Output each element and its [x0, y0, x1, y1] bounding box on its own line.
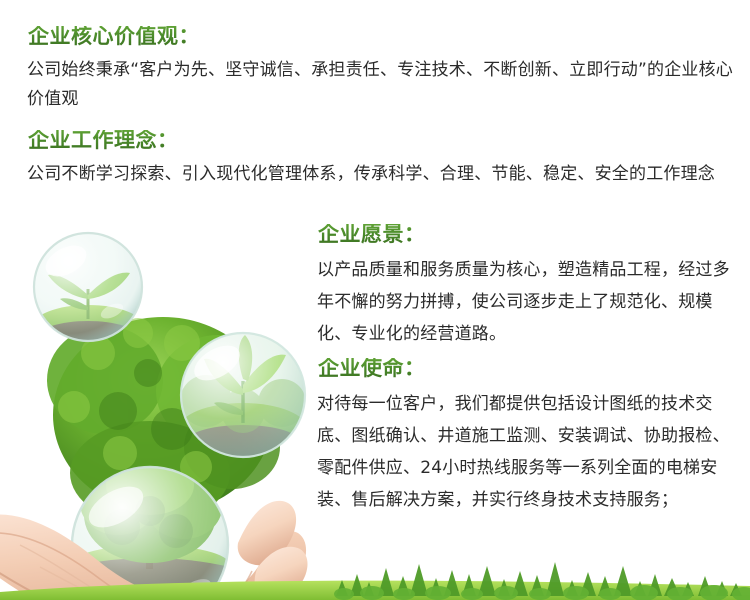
- body-vision: 以产品质量和服务质量为核心，塑造精品工程，经过多年不懈的努力拼搏，使公司逐步走上…: [317, 254, 737, 350]
- body-mission: 对待每一位客户，我们都提供包括设计图纸的技术交底、图纸确认、井道施工监测、安装调…: [317, 388, 737, 516]
- heading-vision: 企业愿景：: [318, 224, 426, 245]
- heading-work-philosophy: 企业工作理念：: [28, 130, 179, 151]
- heading-core-values: 企业核心价值观：: [28, 26, 200, 47]
- body-core-values: 公司始终秉承“客户为先、坚守诚信、承担责任、专注技术、不断创新、立即行动”的企业…: [27, 56, 733, 114]
- heading-mission: 企业使命：: [318, 358, 426, 379]
- forest-band-image: [0, 548, 750, 600]
- body-work-philosophy: 公司不断学习探索、引入现代化管理体系，传承科学、合理、节能、稳定、安全的工作理念: [27, 160, 733, 189]
- company-culture-page: 企业核心价值观： 公司始终秉承“客户为先、坚守诚信、承担责任、专注技术、不断创新…: [0, 0, 750, 600]
- eco-illustration-image: [0, 215, 330, 600]
